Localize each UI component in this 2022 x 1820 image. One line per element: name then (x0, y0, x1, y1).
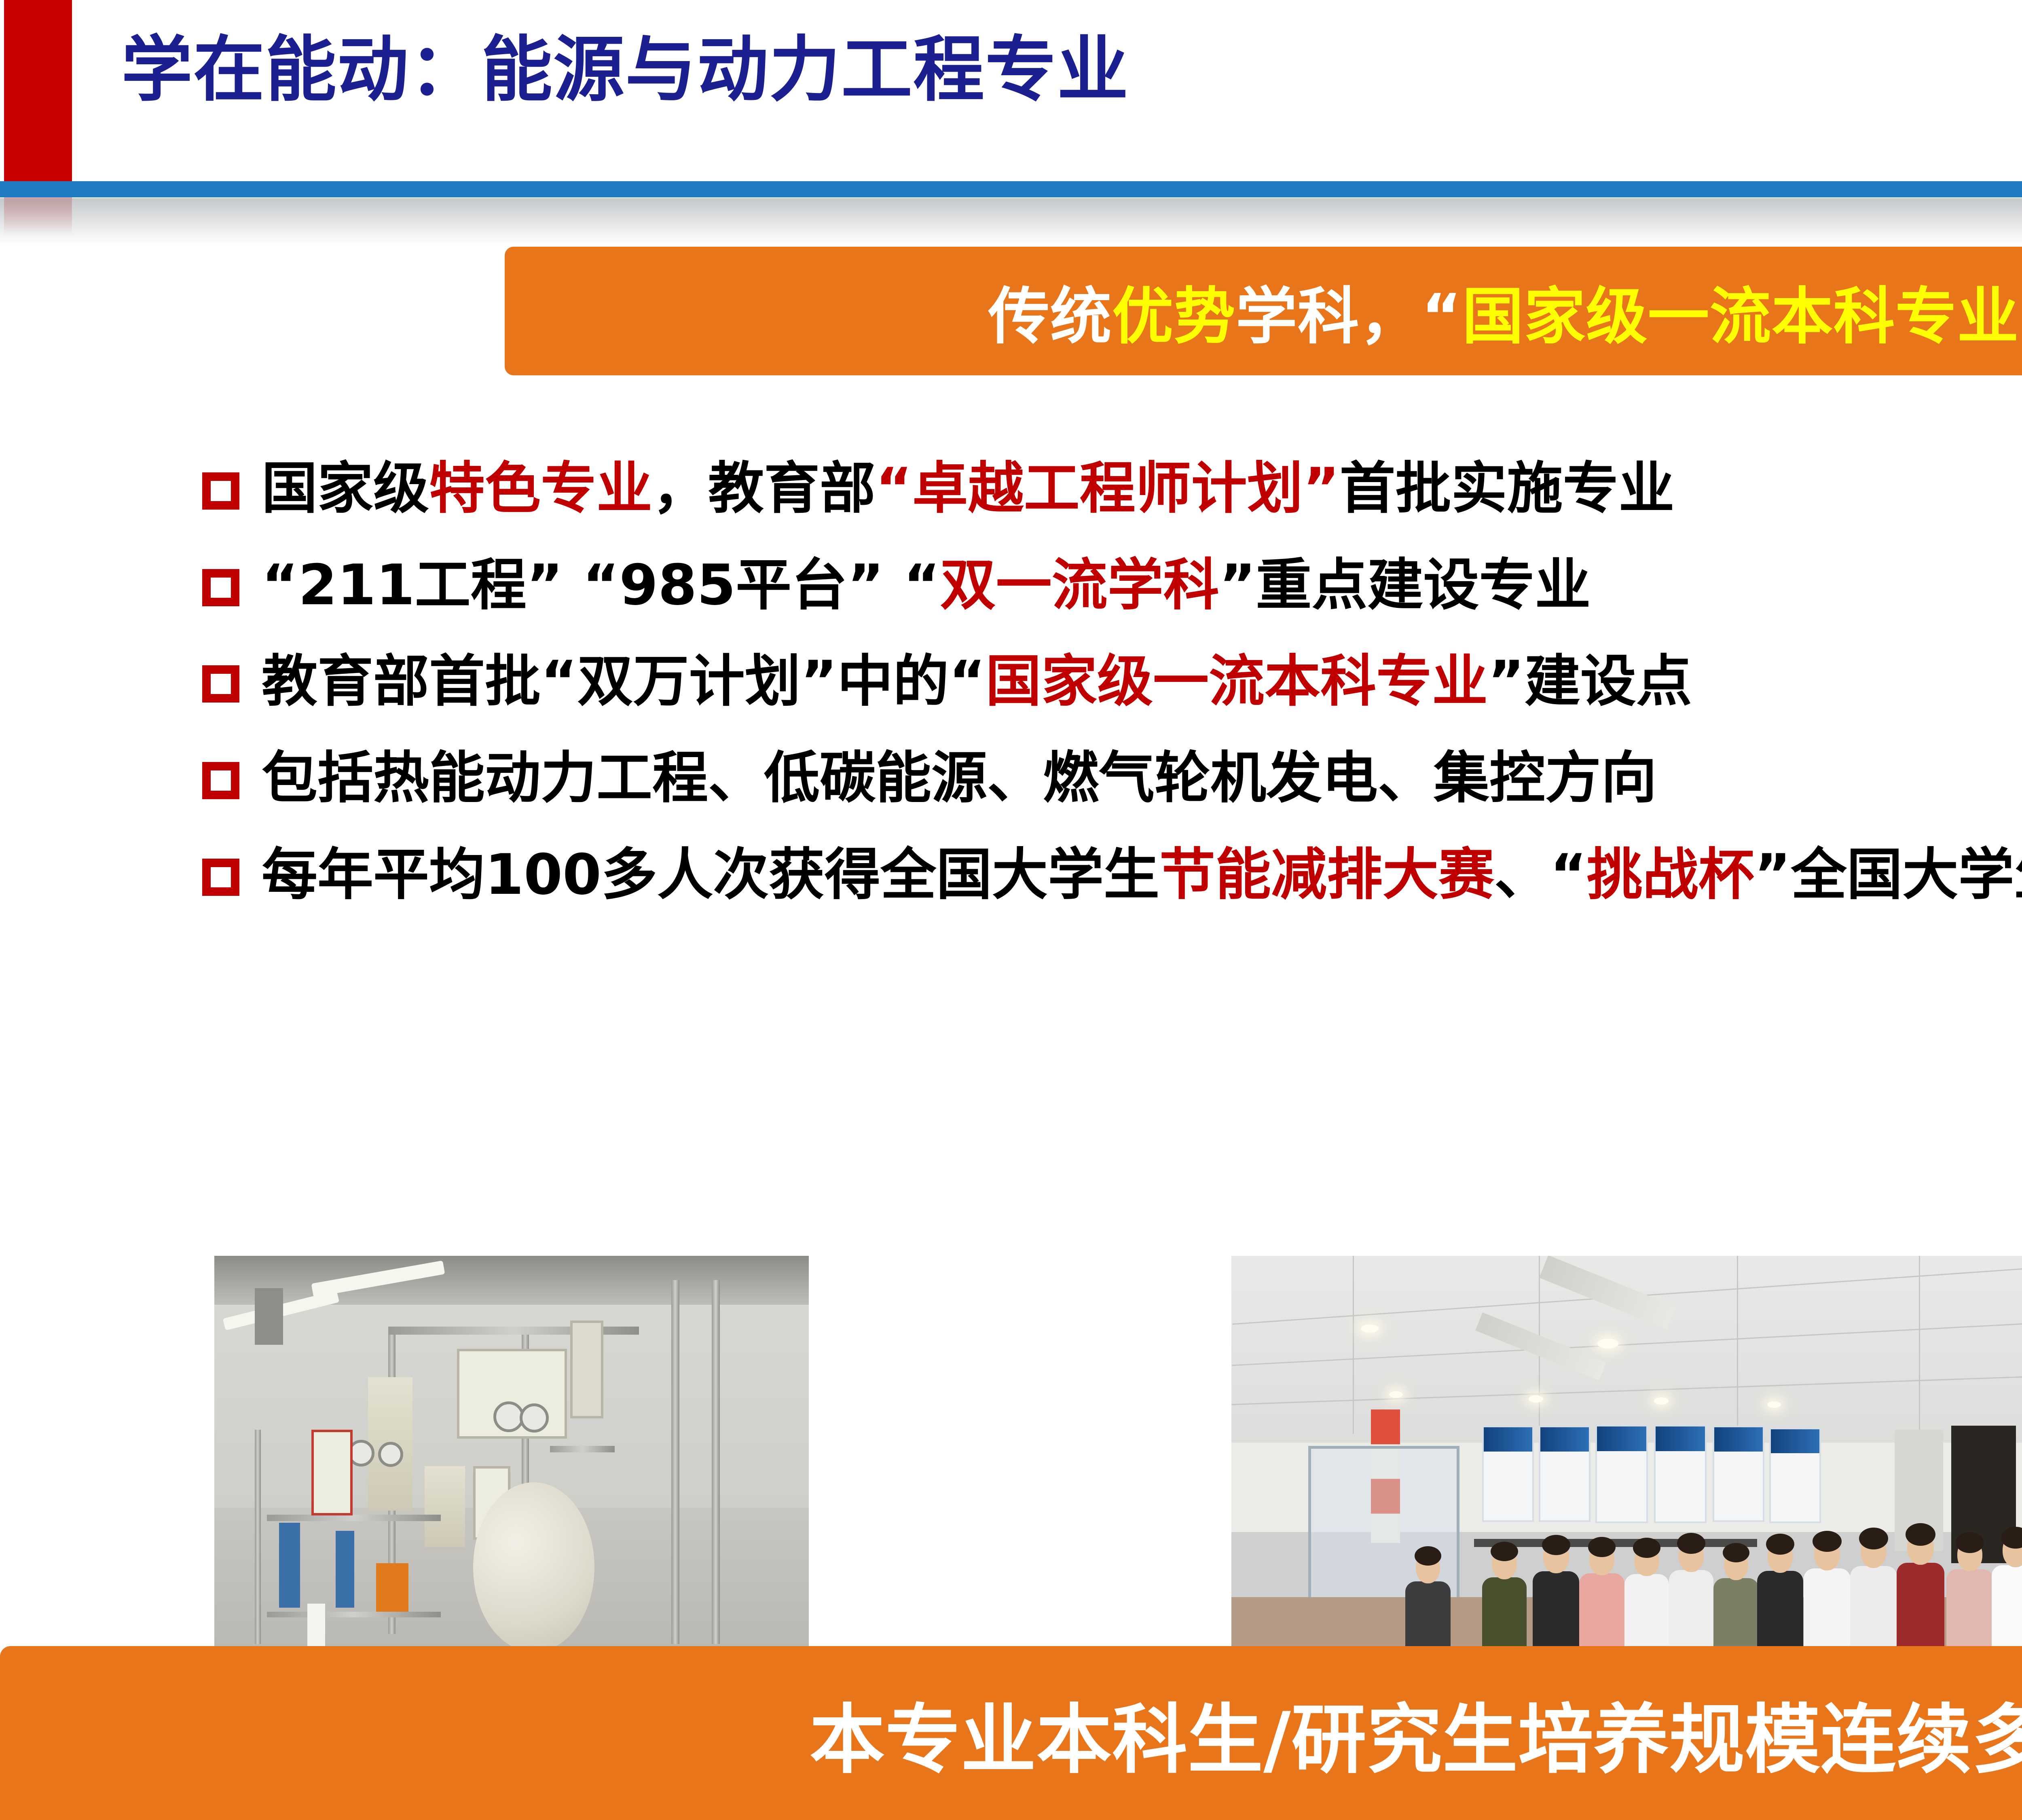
headline-seg-0: 传统 (988, 281, 1112, 352)
b1-seg-3: “卓越工程师计划” (876, 456, 1339, 521)
list-item-text: “211工程” “985平台” “双一流学科”重点建设专业 (262, 550, 1591, 621)
square-bullet-icon (202, 665, 239, 703)
list-item-text: 包括热能动力工程、低碳能源、燃气轮机发电、集控方向 (262, 743, 1657, 814)
b5-seg-2: 、“ (1494, 842, 1587, 907)
square-bullet-icon (202, 762, 239, 799)
b2-seg-1: 双一流学科 (940, 552, 1219, 618)
list-item: 包括热能动力工程、低碳能源、燃气轮机发电、集控方向 (202, 743, 2022, 814)
headline-banner-text: 传统优势学科，“国家级一流本科专业”建设点 (988, 267, 2022, 356)
bullet-list: 国家级特色专业，教育部“卓越工程师计划”首批实施专业 “211工程” “985平… (202, 453, 2022, 921)
footer-seg-0: 本专业本科生/研究生培养规模连续多年 (810, 1696, 2022, 1784)
square-bullet-icon (202, 569, 239, 606)
b2-seg-2: ”重点建设专业 (1219, 552, 1591, 618)
headline-seg-3: 国家级一流本科专业 (1462, 281, 2019, 352)
slide-root: 学在能动：能源与动力工程专业 1958 NORTH CHINA ELECTRIC (0, 0, 2022, 1820)
b5-seg-0: 每年平均100多人次获得全国大学生 (262, 842, 1159, 907)
b4-seg-0: 包括热能动力工程、低碳能源、燃气轮机发电、集控方向 (262, 745, 1657, 811)
list-item: 教育部首批“双万计划”中的“国家级一流本科专业”建设点 (202, 646, 2022, 717)
list-item-text: 国家级特色专业，教育部“卓越工程师计划”首批实施专业 (262, 453, 1674, 525)
list-item: “211工程” “985平台” “双一流学科”重点建设专业 (202, 550, 2022, 621)
header-red-accent-bar (4, 0, 72, 181)
b1-seg-4: 首批实施专业 (1339, 456, 1674, 521)
list-item: 每年平均100多人次获得全国大学生节能减排大赛、“挑战杯”全国大学生课外学术科技… (202, 839, 2022, 911)
slide-title: 学在能动：能源与动力工程专业 (121, 34, 1129, 106)
b1-seg-1: 特色专业 (429, 456, 652, 521)
header-blue-rule (0, 181, 2022, 197)
photo-students-exhibition-hall (1231, 1256, 2022, 1662)
list-item-text: 每年平均100多人次获得全国大学生节能减排大赛、“挑战杯”全国大学生课外学术科技… (262, 839, 2022, 911)
b1-seg-2: ，教育部 (652, 456, 876, 521)
headline-seg-1: 优势 (1112, 281, 1236, 352)
footer-banner-text: 本专业本科生/研究生培养规模连续多年全国第一 (810, 1678, 2022, 1788)
footer-banner: 本专业本科生/研究生培养规模连续多年全国第一 (0, 1646, 2022, 1820)
b3-seg-0: 教育部首批“双万计划”中的“ (262, 649, 986, 714)
photo-strip (0, 1256, 2022, 1664)
b1-seg-0: 国家级 (262, 456, 429, 521)
headline-banner: 传统优势学科，“国家级一流本科专业”建设点 (505, 247, 2022, 375)
square-bullet-icon (202, 859, 239, 896)
b2-seg-0: “211工程” “985平台” “ (262, 552, 940, 618)
b5-seg-1: 节能减排大赛 (1159, 842, 1494, 907)
list-item: 国家级特色专业，教育部“卓越工程师计划”首批实施专业 (202, 453, 2022, 525)
headline-seg-4: ”建设点 (2019, 281, 2022, 352)
square-bullet-icon (202, 472, 239, 510)
b3-seg-2: ”建设点 (1488, 649, 1692, 714)
list-item-text: 教育部首批“双万计划”中的“国家级一流本科专业”建设点 (262, 646, 1692, 717)
slide-header: 学在能动：能源与动力工程专业 1958 NORTH CHINA ELECTRIC (0, 0, 2022, 210)
header-blue-rule-reflection (0, 198, 2022, 245)
photo-laboratory-equipment (214, 1256, 809, 1662)
b5-seg-3: 挑战杯 (1587, 842, 1754, 907)
b5-seg-4: ”全国大学生课外学术科技作品竞赛等竞赛奖励 (1754, 842, 2022, 907)
b3-seg-1: 国家级一流本科专业 (986, 649, 1488, 714)
headline-seg-2: 学科，“ (1236, 281, 1462, 352)
